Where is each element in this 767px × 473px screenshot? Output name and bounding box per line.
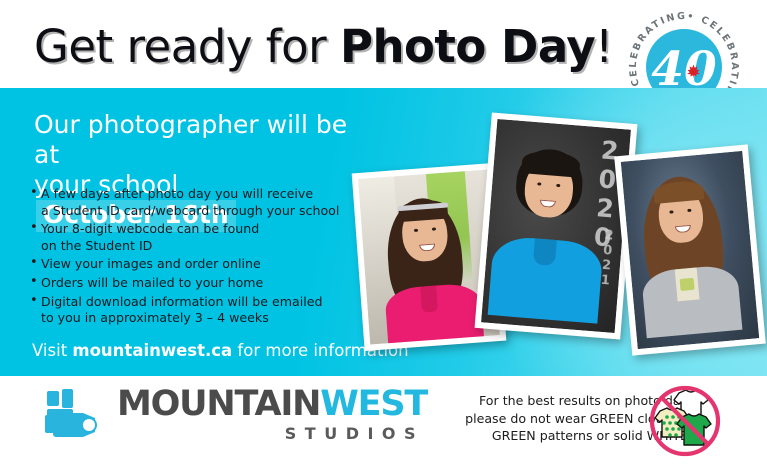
headline-exclamation: ! (595, 20, 613, 73)
list-item: A few days after photo day you will rece… (30, 186, 365, 219)
child-figure (481, 119, 631, 333)
logo-word-west: WEST (320, 384, 427, 424)
no-green-white-clothing-icon (645, 385, 725, 457)
visit-prefix: Visit (32, 341, 72, 360)
photo-image (621, 151, 760, 349)
camera-icon (45, 389, 107, 441)
info-bullet-list: A few days after photo day you will rece… (30, 186, 365, 329)
list-item: Your 8-digit webcode can be found on the… (30, 221, 365, 254)
headline-light: Get ready for (34, 20, 340, 73)
list-item: Digital download information will be ema… (30, 294, 365, 327)
list-item: View your images and order online (30, 256, 365, 273)
logo-word-mountain: MOUNTAIN (117, 384, 320, 424)
list-item: Orders will be mailed to your home (30, 275, 365, 292)
page-title: Get ready for Photo Day! (34, 20, 613, 73)
child-figure (621, 151, 760, 349)
logo-text: MOUNTAINWEST STUDIOS (117, 386, 427, 443)
website-url[interactable]: mountainwest.ca (72, 341, 232, 360)
logo-wordmark: MOUNTAINWEST (117, 386, 427, 422)
brand-logo: MOUNTAINWEST STUDIOS (45, 386, 427, 443)
logo-subtitle: STUDIOS (117, 424, 427, 443)
visit-website-line: Visit mountainwest.ca for more informati… (32, 341, 409, 360)
photo-day-flyer: Get ready for Photo Day! • CELEBRATING 4… (0, 0, 767, 473)
photo-image: 2020 2021 (481, 119, 631, 333)
student-photo-center: 2020 2021 (475, 112, 638, 339)
headline-bold: Photo Day (340, 20, 595, 73)
student-photo-right (614, 144, 766, 355)
subhead-line-1: Our photographer will be at (34, 110, 347, 169)
